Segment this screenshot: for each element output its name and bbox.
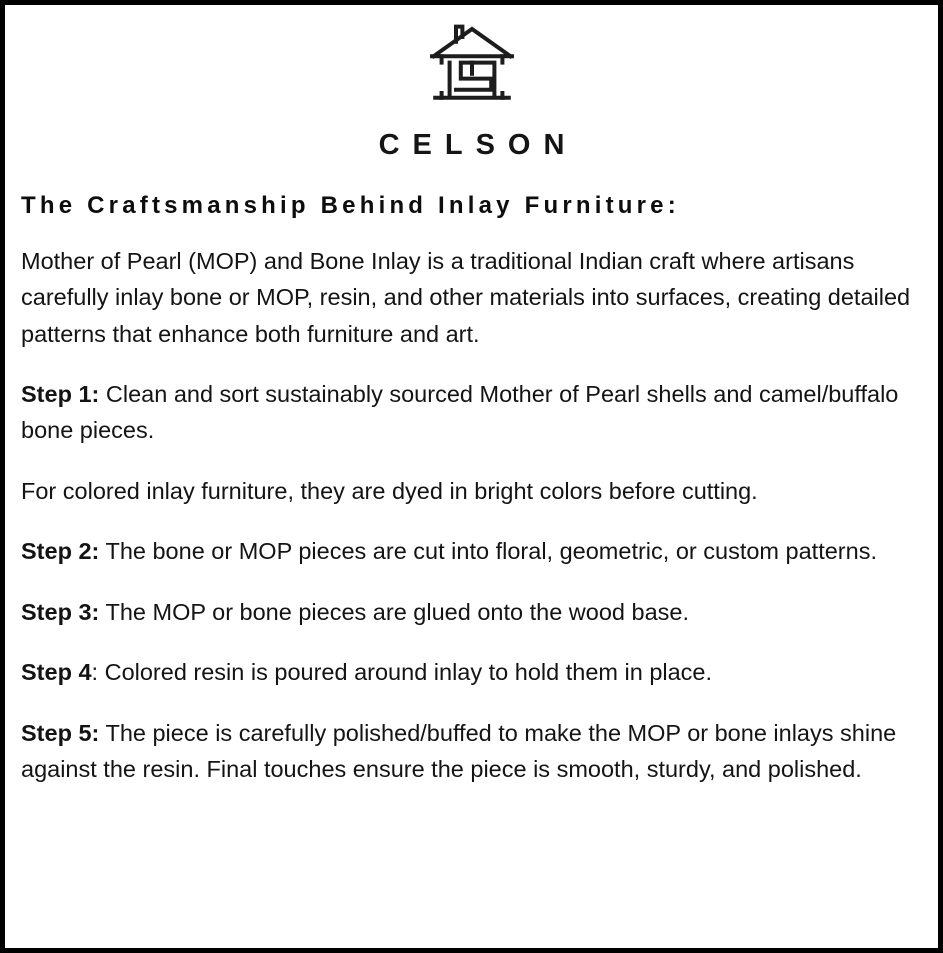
paragraph-text: For colored inlay furniture, they are dy… (21, 478, 758, 504)
poster-inner: CELSON The Craftsmanship Behind Inlay Fu… (5, 5, 938, 948)
page-title: The Craftsmanship Behind Inlay Furniture… (21, 192, 922, 221)
paragraph-step-5: Step 5: The piece is carefully polished/… (21, 715, 922, 788)
paragraph-text: The bone or MOP pieces are cut into flor… (99, 538, 877, 564)
paragraph-step-3: Step 3: The MOP or bone pieces are glued… (21, 594, 922, 630)
step-label: Step 5: (21, 720, 99, 746)
house-monogram-logo-icon (424, 21, 520, 117)
step-label: Step 1: (21, 381, 99, 407)
brand-wordmark: CELSON (21, 131, 922, 160)
paragraph-text: Mother of Pearl (MOP) and Bone Inlay is … (21, 248, 910, 347)
paragraph-intro: Mother of Pearl (MOP) and Bone Inlay is … (21, 243, 922, 352)
step-label: Step 3: (21, 599, 99, 625)
paragraph-text: Colored resin is poured around inlay to … (98, 659, 712, 685)
paragraph-colored-inlay-note: For colored inlay furniture, they are dy… (21, 473, 922, 509)
paragraph-step-2: Step 2: The bone or MOP pieces are cut i… (21, 533, 922, 569)
paragraph-step-4: Step 4: Colored resin is poured around i… (21, 654, 922, 690)
body-copy: Mother of Pearl (MOP) and Bone Inlay is … (21, 243, 922, 788)
paragraph-text: The piece is carefully polished/buffed t… (21, 720, 896, 782)
paragraph-text: Clean and sort sustainably sourced Mothe… (21, 381, 898, 443)
step-label: Step 4 (21, 659, 92, 685)
paragraph-step-1: Step 1: Clean and sort sustainably sourc… (21, 376, 922, 449)
paragraph-text: The MOP or bone pieces are glued onto th… (99, 599, 689, 625)
brand-block: CELSON (21, 15, 922, 160)
step-label: Step 2: (21, 538, 99, 564)
poster-card: CELSON The Craftsmanship Behind Inlay Fu… (0, 0, 943, 953)
